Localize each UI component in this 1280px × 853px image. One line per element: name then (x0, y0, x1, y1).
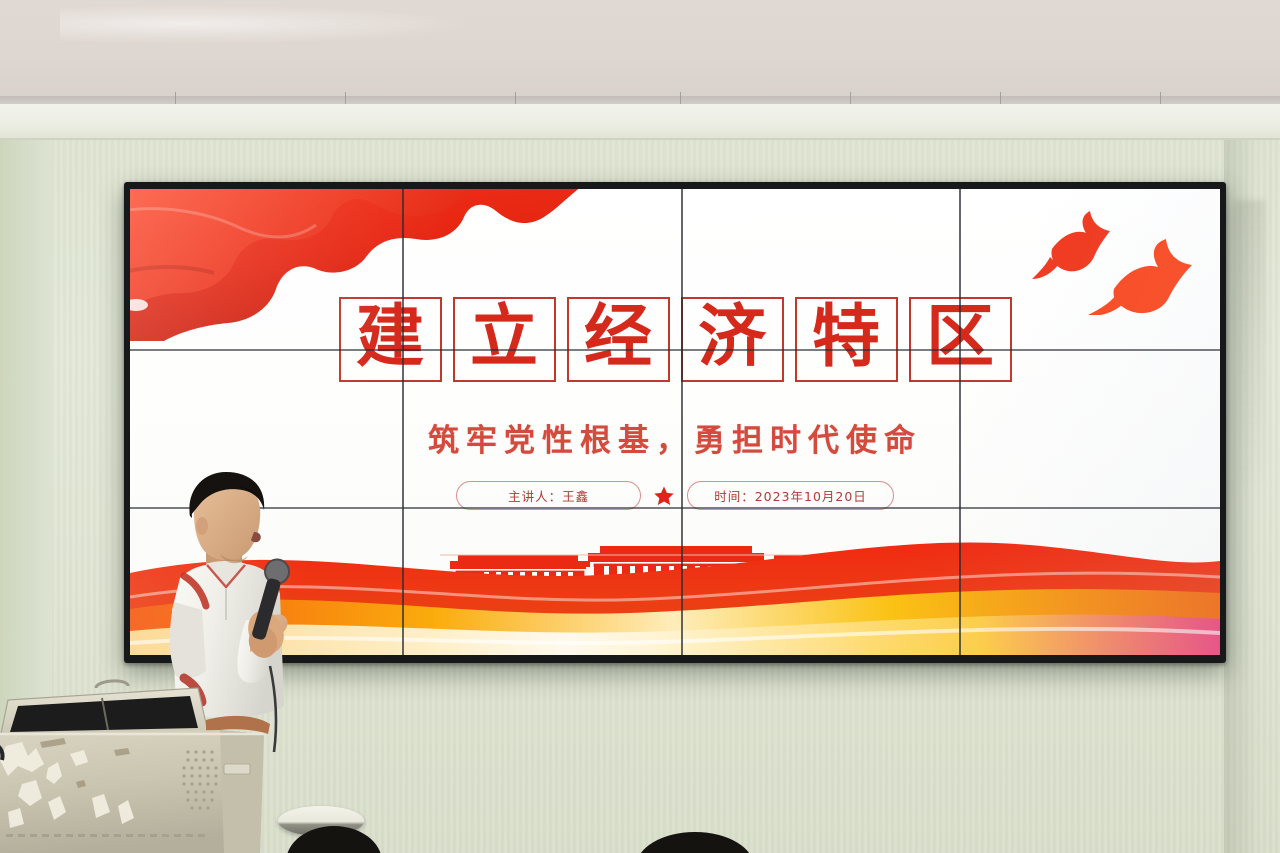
slide-subtitle: 筑牢党性根基，勇担时代使命 (130, 415, 1220, 460)
panel-seam-vertical (402, 189, 404, 655)
five-point-star-icon (653, 485, 675, 507)
title-char-box: 济 (681, 297, 784, 382)
slide-title: 建 立 经 济 特 区 (130, 297, 1220, 382)
wall-stain (1235, 200, 1265, 500)
date-pill: 时间：2023年10月20日 (687, 481, 894, 510)
upper-wall (0, 0, 1280, 104)
title-char: 立 (470, 304, 538, 372)
panel-seam-horizontal (130, 349, 1220, 351)
panel-seam-vertical (959, 189, 961, 655)
title-char: 经 (584, 304, 652, 372)
title-char: 济 (698, 304, 766, 372)
speaker-pill: 主讲人：王鑫 (456, 481, 641, 510)
title-char-box: 建 (339, 297, 442, 382)
panel-seam-vertical (681, 189, 683, 655)
title-char: 建 (356, 304, 424, 372)
ceiling-soffit-beam (0, 104, 1280, 140)
lectern-podium (0, 672, 322, 853)
title-char: 特 (812, 304, 880, 372)
title-char-box: 特 (795, 297, 898, 382)
title-char-box: 立 (453, 297, 556, 382)
screenshot-root: 建 立 经 济 特 区 筑牢党性根基，勇担时代使命 主讲人：王鑫 时间：2023… (0, 0, 1280, 853)
title-char-box: 经 (567, 297, 670, 382)
